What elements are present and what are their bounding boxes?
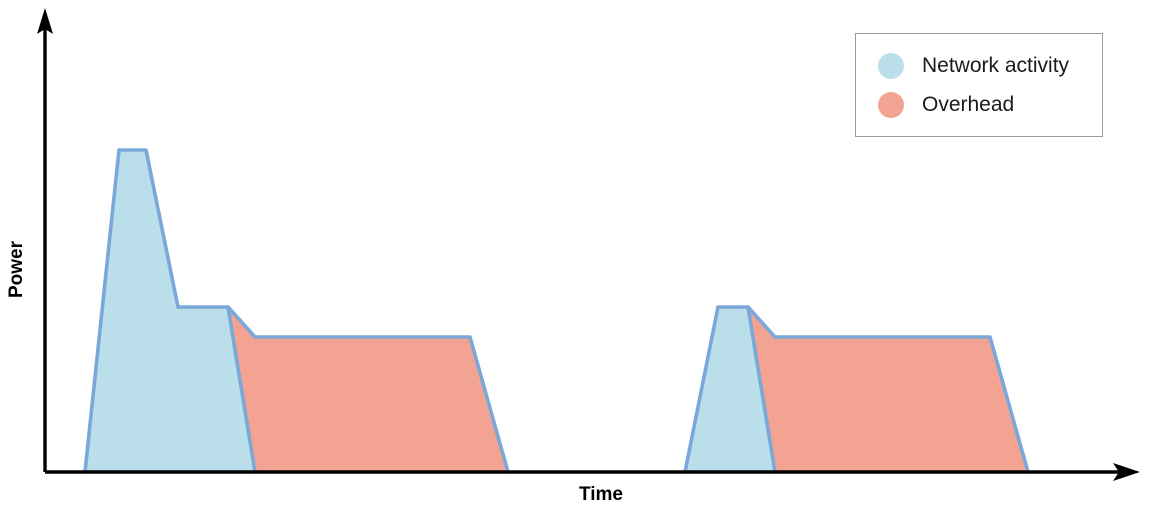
overhead-area-pulse-1 <box>228 307 508 472</box>
overhead-area-pulse-2 <box>748 307 1028 472</box>
x-axis-title: Time <box>0 484 1162 506</box>
legend-entry-overhead: Overhead <box>878 89 1084 121</box>
legend-entry-network-activity: Network activity <box>878 50 1084 82</box>
chart-legend: Network activity Overhead <box>855 33 1103 137</box>
chart-figure: Power Time Network activity Overhead <box>0 0 1162 530</box>
legend-label: Network activity <box>922 55 1069 76</box>
series-overhead <box>228 307 1028 472</box>
circle-marker-icon <box>878 92 904 118</box>
circle-marker-icon <box>878 53 904 79</box>
y-axis-title: Power <box>6 241 28 298</box>
legend-label: Overhead <box>922 94 1014 115</box>
